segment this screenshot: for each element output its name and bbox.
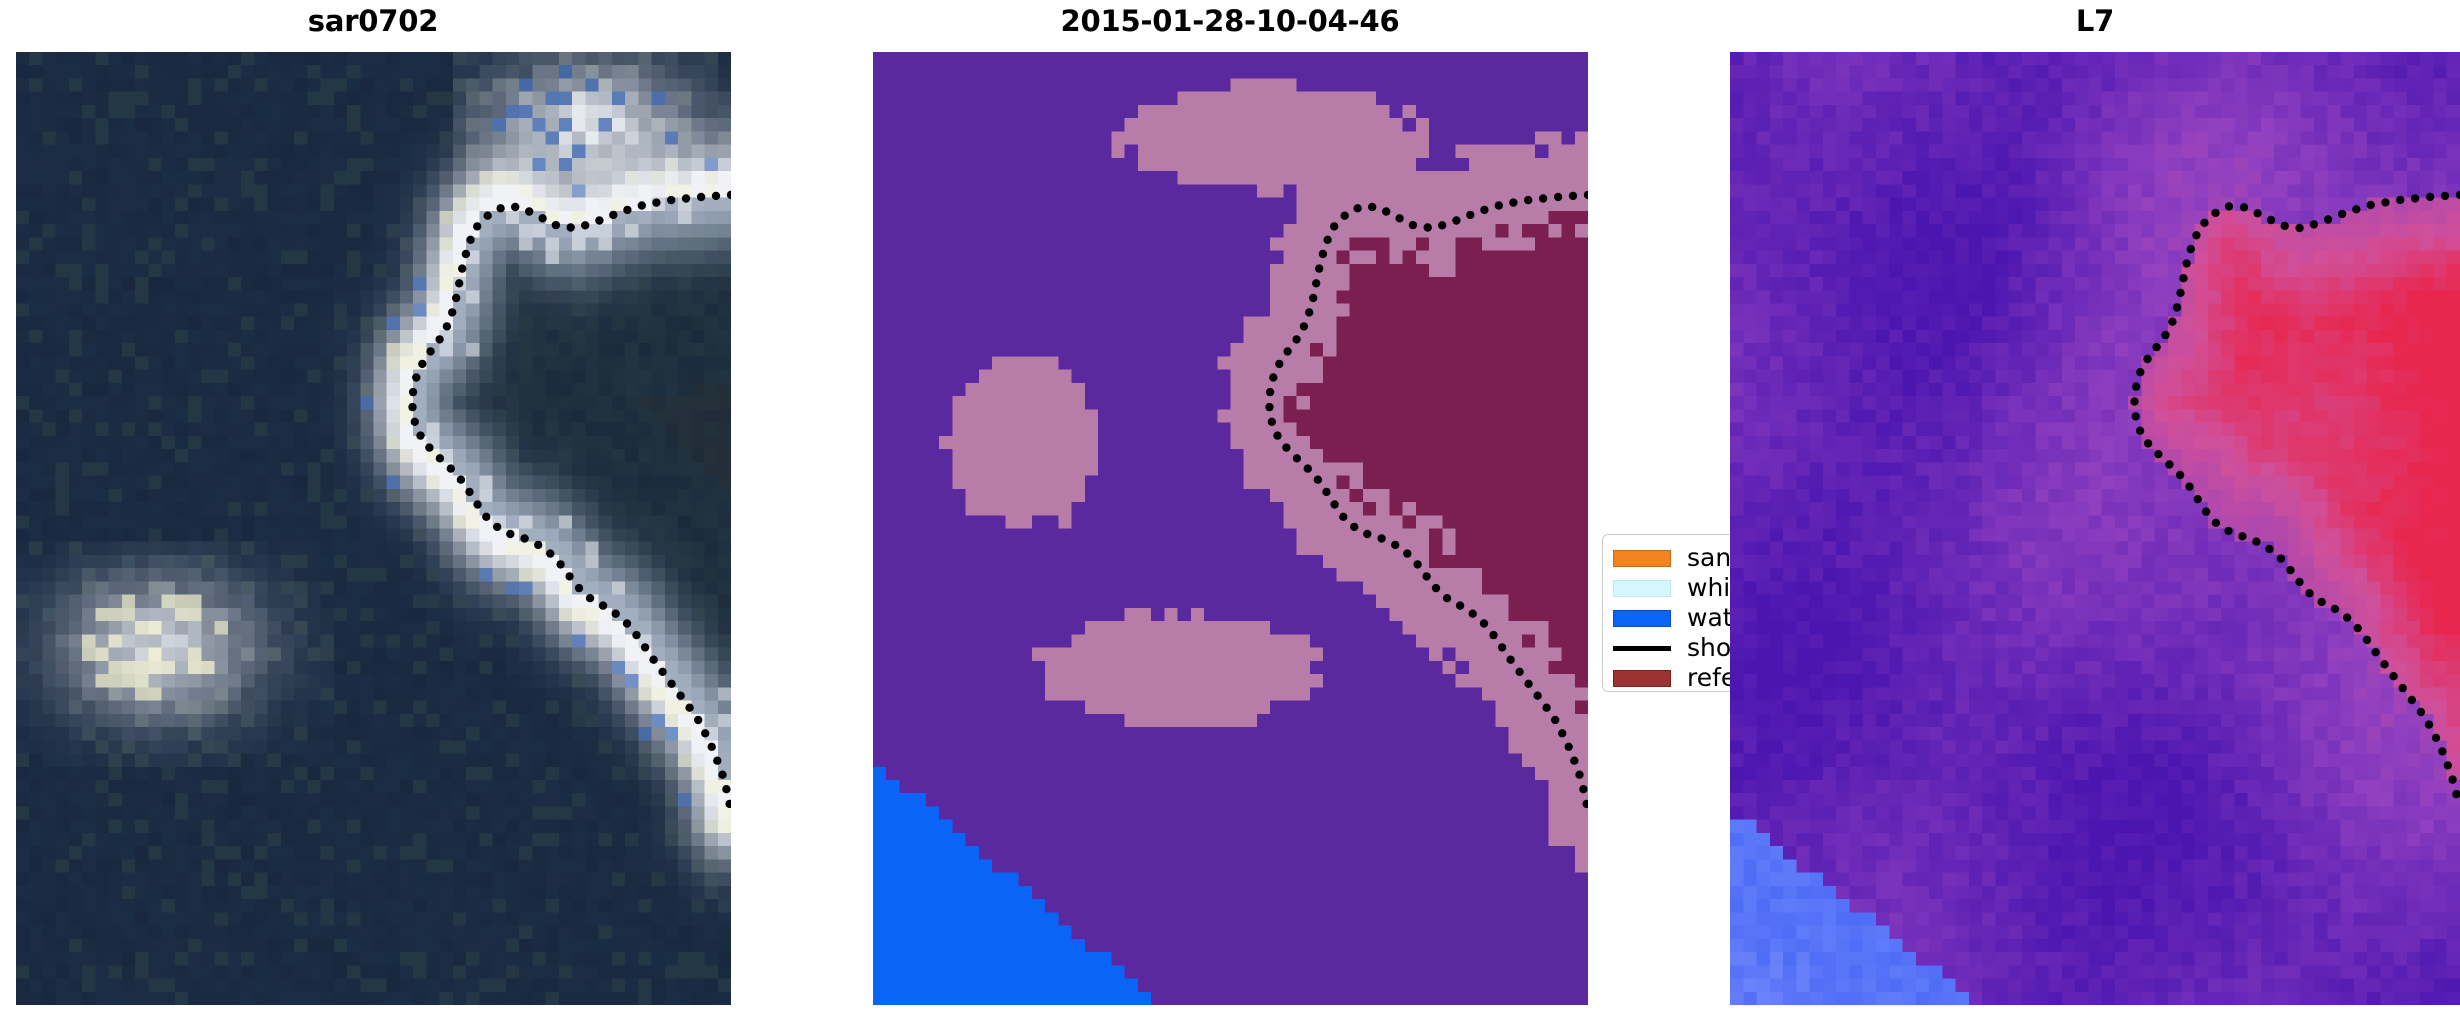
panel-title-sar: sar0702 xyxy=(0,4,773,38)
panel-title-classified: 2015-01-28-10-04-46 xyxy=(830,4,1630,38)
classification-image xyxy=(873,52,1588,1005)
figure-canvas: sar0702 2015-01-28-10-04-46 sand whitewa… xyxy=(0,0,2460,1021)
sar-rgb-image xyxy=(16,52,731,1005)
panel-l7[interactable] xyxy=(1730,52,2460,1005)
sand-color-swatch xyxy=(1613,550,1671,567)
panel-sar0702[interactable] xyxy=(16,52,731,1005)
l7-index-image xyxy=(1730,52,2460,1005)
water-color-swatch xyxy=(1613,610,1671,627)
shoreline-line-swatch xyxy=(1613,646,1671,651)
reference-color-swatch xyxy=(1613,670,1671,687)
panel-title-l7: L7 xyxy=(1695,4,2460,38)
panel-classified[interactable] xyxy=(873,52,1588,1005)
whitewater-color-swatch xyxy=(1613,580,1671,597)
